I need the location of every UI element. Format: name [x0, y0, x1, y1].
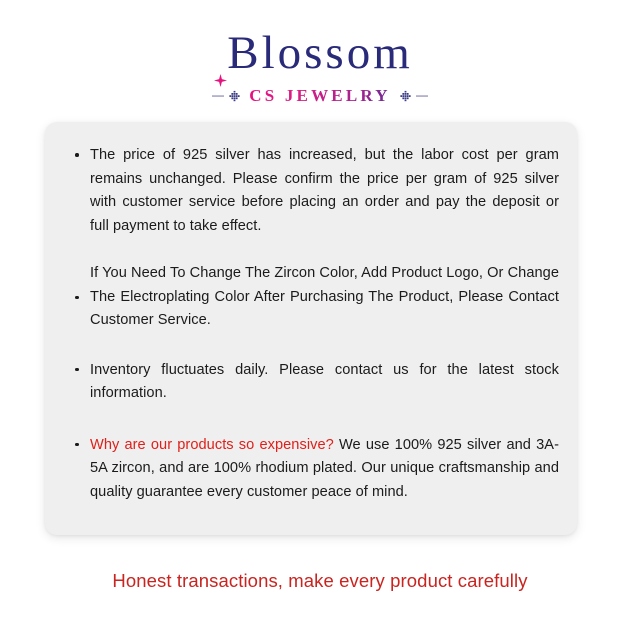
notice-list: The price of 925 silver has increased, b…	[67, 144, 559, 504]
notice-text: If You Need To Change The Zircon Color, …	[90, 265, 559, 328]
bullet-icon	[75, 368, 79, 372]
notice-item: Inventory fluctuates daily. Please conta…	[67, 359, 559, 406]
snowflake-ornament-icon	[212, 89, 242, 103]
brand-header: Blossom	[0, 30, 640, 106]
notice-item: If You Need To Change The Zircon Color, …	[67, 262, 559, 333]
footer-slogan: Honest transactions, make every product …	[0, 570, 640, 592]
bullet-icon	[75, 153, 79, 157]
snowflake-ornament-icon	[398, 89, 428, 103]
notice-item: Why are our products so expensive? We us…	[67, 434, 559, 505]
notice-text: Inventory fluctuates daily. Please conta…	[90, 362, 559, 402]
bullet-icon	[75, 443, 79, 447]
notice-card: The price of 925 silver has increased, b…	[45, 122, 577, 535]
brand-wordmark: Blossom	[221, 30, 419, 77]
notice-text: The price of 925 silver has increased, b…	[90, 147, 559, 234]
sparkle-diamond-icon	[214, 49, 227, 62]
brand-wordmark-text: Blossom	[227, 27, 413, 79]
brand-tagline-row: CS JEWELRY	[0, 86, 640, 106]
notice-highlight-text: Why are our products so expensive?	[90, 437, 334, 453]
bullet-icon	[75, 296, 79, 300]
notice-item: The price of 925 silver has increased, b…	[67, 144, 559, 238]
brand-tagline-text: CS JEWELRY	[249, 86, 390, 106]
